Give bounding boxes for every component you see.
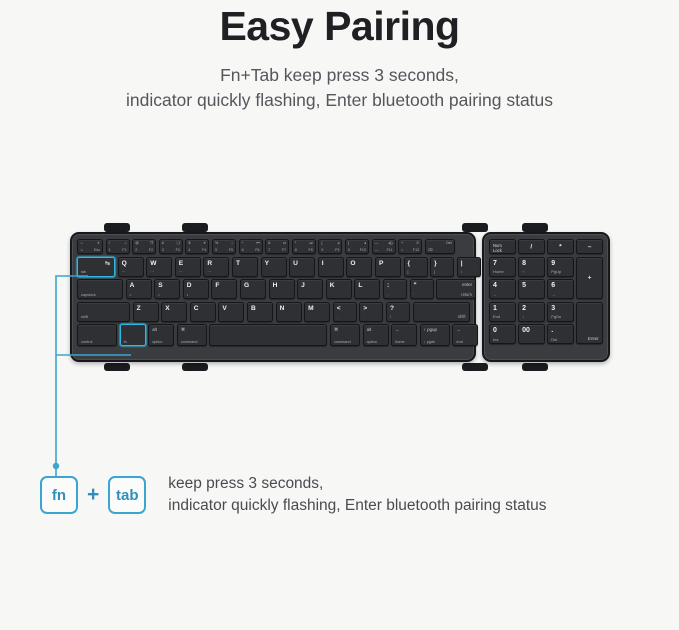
- key-primary-label: |: [461, 260, 463, 267]
- numpad-key-3-0[interactable]: 0Ins: [489, 324, 516, 344]
- footer-tab-key[interactable]: tab: [108, 476, 146, 514]
- key-top-legend: &⏯: [268, 241, 286, 245]
- key-home-11[interactable]: "': [410, 279, 434, 299]
- key-bottom-legend: 3F3: [162, 248, 180, 252]
- key-bottom-legend: =F12: [401, 248, 419, 252]
- key-secondary-label: control: [81, 340, 92, 344]
- key-secondary-label: •: [158, 293, 159, 297]
- numpad-key-number: 8: [522, 260, 526, 267]
- key-secondary-label: ↓ pgdn: [424, 340, 435, 344]
- key-primary-label: L: [358, 282, 362, 289]
- key-secondary-label: command: [334, 340, 351, 344]
- key-primary-label: R: [207, 260, 212, 267]
- key-bottom-legend: 5F5: [215, 248, 233, 252]
- numpad-key-label: Num Lock: [493, 243, 512, 253]
- key-primary-label: J: [301, 282, 305, 289]
- key-function-8[interactable]: *⏭8F8: [292, 239, 316, 254]
- key-modifier-7[interactable]: home←: [391, 324, 417, 346]
- key-secondary-label: end: [456, 340, 462, 344]
- key-top-label: →: [456, 327, 460, 332]
- key-bottom-legend: 7F7: [268, 248, 286, 252]
- key-secondary-label: shift: [81, 315, 88, 319]
- key-qwerty-4[interactable]: R···: [203, 257, 229, 277]
- key-primary-label: Q: [122, 260, 127, 267]
- numpad-enter-key[interactable]: Enter: [576, 302, 603, 345]
- key-top-legend: Del: [428, 241, 452, 245]
- qwerty-row: ↹tabQ···W···E···R···TYUIOP{[}]|\: [77, 257, 470, 277]
- key-qwerty-1[interactable]: Q···: [118, 257, 144, 277]
- key-modifier-0[interactable]: control: [77, 324, 117, 346]
- numpad-key-label: –: [577, 243, 602, 250]
- numpad-key-2-0[interactable]: 1End: [489, 302, 516, 322]
- numpad-fn-key-2[interactable]: *: [547, 239, 574, 254]
- key-top-legend: ^⏮: [242, 241, 260, 245]
- key-qwerty-7[interactable]: U: [289, 257, 315, 277]
- key-home-4[interactable]: F: [211, 279, 237, 299]
- key-function-9[interactable]: (◂9F9: [318, 239, 342, 254]
- key-top-label: alt: [152, 327, 157, 332]
- key-secondary-label: •: [187, 293, 188, 297]
- key-bottom-right-label: return: [461, 292, 472, 297]
- numpad-key-2-1[interactable]: 2↓: [518, 302, 545, 322]
- key-primary-label: Z: [137, 305, 141, 312]
- numpad-enter-label: Enter: [588, 336, 599, 341]
- numpad-key-number: 7: [493, 260, 497, 267]
- key-top-label: ⌘: [334, 327, 338, 333]
- page-title: Easy Pairing: [0, 4, 679, 49]
- key-primary-label: H: [273, 282, 278, 289]
- key-secondary-label: [: [408, 270, 409, 274]
- key-qwerty-0[interactable]: ↹tab: [77, 257, 115, 277]
- key-alpha-6[interactable]: N: [276, 302, 302, 322]
- numpad-key-number: 0: [493, 327, 497, 334]
- key-secondary-label: command: [181, 340, 198, 344]
- numpad-key-function: ←: [493, 292, 497, 297]
- key-primary-label: {: [408, 260, 411, 267]
- key-primary-label: <: [337, 305, 341, 312]
- footer-caption-line-1: keep press 3 seconds,: [168, 473, 546, 495]
- keyboard-illustration: ☼☀↘Esc!⌕1F1@❐2F2#❑3F3$☀4F4%↓5F5^⏮6F6&⏯7F…: [0, 205, 679, 390]
- key-alpha-8[interactable]: <,: [333, 302, 357, 322]
- footer-fn-label: fn: [52, 487, 66, 504]
- hinge-bottom-2: [182, 363, 208, 371]
- numpad-key-0-0[interactable]: 7Home: [489, 257, 516, 277]
- footer-caption-line-2: indicator quickly flashing, Enter blueto…: [168, 495, 546, 517]
- key-primary-label: N: [280, 305, 285, 312]
- key-home-8[interactable]: K: [326, 279, 352, 299]
- subtitle-line-2: indicator quickly flashing, Enter blueto…: [0, 88, 679, 113]
- key-function-5[interactable]: %↓5F5: [212, 239, 236, 254]
- key-function-6[interactable]: ^⏮6F6: [239, 239, 263, 254]
- key-home-9[interactable]: L: [354, 279, 380, 299]
- hinge-top-2: [182, 223, 208, 232]
- key-secondary-label: ···: [122, 270, 126, 274]
- key-alpha-5[interactable]: B: [247, 302, 273, 322]
- foldable-keyboard: ☼☀↘Esc!⌕1F1@❐2F2#❑3F3$☀4F4%↓5F5^⏮6F6&⏯7F…: [70, 223, 610, 371]
- key-top-legend: (◂: [321, 241, 339, 245]
- key-bottom-legend: 2F2: [135, 248, 153, 252]
- numpad-key-function: End: [493, 314, 500, 319]
- key-function-11[interactable]: —◂))—F11: [372, 239, 396, 254]
- key-top-legend: )◂: [348, 241, 366, 245]
- footer-fn-key[interactable]: fn: [40, 476, 78, 514]
- numpad-key-function: ↓: [522, 314, 524, 319]
- key-top-legend: +⚿: [401, 241, 419, 245]
- hinge-top-4: [522, 223, 548, 232]
- key-function-7[interactable]: &⏯7F7: [265, 239, 289, 254]
- key-primary-label: ": [414, 282, 417, 289]
- numpad-key-function: Ins: [493, 337, 498, 342]
- key-alpha-10[interactable]: ?/: [386, 302, 410, 322]
- numpad-key-3-2[interactable]: .Del: [547, 324, 574, 344]
- key-bottom-legend: —F11: [375, 248, 393, 252]
- tab-arrow-icon: ↹: [105, 260, 110, 267]
- key-home-0[interactable]: capslock: [77, 279, 123, 299]
- key-bottom-legend: 9F9: [321, 248, 339, 252]
- numpad-row: 4←56→: [489, 279, 574, 299]
- key-top-legend: %↓: [215, 241, 233, 245]
- key-primary-label: C: [194, 305, 199, 312]
- hinge-top-1: [104, 223, 130, 232]
- numpad-key-number: 9: [551, 260, 555, 267]
- key-bottom-legend: 8F8: [295, 248, 313, 252]
- key-primary-label: >: [363, 305, 367, 312]
- hinge-bottom-3: [462, 363, 488, 371]
- key-qwerty-3[interactable]: E···: [175, 257, 201, 277]
- key-top-label: alt: [367, 327, 372, 332]
- key-alpha-7[interactable]: M: [304, 302, 330, 322]
- hinge-bottom-1: [104, 363, 130, 371]
- key-secondary-label: home: [395, 340, 405, 344]
- function-key-row: ☼☀↘Esc!⌕1F1@❐2F2#❑3F3$☀4F4%↓5F5^⏮6F6&⏯7F…: [77, 239, 470, 254]
- key-qwerty-5[interactable]: T: [232, 257, 258, 277]
- footer-caption: keep press 3 seconds, indicator quickly …: [168, 473, 546, 517]
- key-primary-label: D: [187, 282, 192, 289]
- numpad-key-number: 2: [522, 305, 526, 312]
- key-primary-label: F: [215, 282, 219, 289]
- modifier-row: controlfnoptionaltcommand⌘command⌘option…: [77, 324, 470, 346]
- key-top-label: ⌘: [181, 327, 185, 333]
- page-subtitle: Fn+Tab keep press 3 seconds, indicator q…: [0, 63, 679, 114]
- key-primary-label: G: [244, 282, 249, 289]
- key-secondary-label: ]: [434, 270, 435, 274]
- numpad-key-0-2[interactable]: 9PgUp: [547, 257, 574, 277]
- key-primary-label: V: [222, 305, 226, 312]
- key-primary-label: }: [434, 260, 437, 267]
- numpad-key-label: *: [548, 243, 573, 250]
- numpad-key-1-0[interactable]: 4←: [489, 279, 516, 299]
- key-alpha-4[interactable]: V: [218, 302, 244, 322]
- numpad-key-1-2[interactable]: 6→: [547, 279, 574, 299]
- numpad-key-0-1[interactable]: 8↑: [518, 257, 545, 277]
- key-bottom-right-label: shift: [458, 314, 466, 319]
- key-modifier-2[interactable]: optionalt: [148, 324, 174, 346]
- key-secondary-label: option: [367, 340, 377, 344]
- key-primary-label: U: [293, 260, 298, 267]
- subtitle-line-1: Fn+Tab keep press 3 seconds,: [0, 63, 679, 88]
- key-primary-label: S: [158, 282, 162, 289]
- numpad-key-number: 4: [493, 282, 497, 289]
- key-home-2[interactable]: S•: [154, 279, 180, 299]
- key-qwerty-6[interactable]: Y: [261, 257, 287, 277]
- numpad-key-function: PgDn: [551, 314, 561, 319]
- key-qwerty-8[interactable]: I: [318, 257, 344, 277]
- numpad-plus-label: +: [577, 274, 602, 281]
- numpad-key-number: 6: [551, 282, 555, 289]
- key-function-13[interactable]: Del⌫: [425, 239, 455, 254]
- key-home-3[interactable]: D•: [183, 279, 209, 299]
- home-row: capslockA•S•D•FGHJKL:;"'enterreturn: [77, 279, 470, 299]
- key-alpha-2[interactable]: X: [161, 302, 187, 322]
- key-home-12[interactable]: enterreturn: [436, 279, 476, 299]
- key-primary-label: X: [165, 305, 169, 312]
- key-primary-label: Y: [265, 260, 269, 267]
- bottom-alpha-row: shiftZXCVBNM<,>.?/shift: [77, 302, 470, 322]
- numpad-row: 7Home8↑9PgUp: [489, 257, 574, 277]
- key-top-legend: #❑: [162, 241, 180, 245]
- numpad-function-row: Num Lock/*–: [489, 239, 604, 254]
- key-top-legend: ☼☀: [80, 241, 100, 245]
- key-secondary-label: ,: [337, 315, 338, 319]
- key-top-legend: @❐: [135, 241, 153, 245]
- key-qwerty-11[interactable]: {[: [404, 257, 428, 277]
- key-top-legend: $☀: [188, 241, 206, 245]
- key-bottom-legend: 0F10: [348, 248, 366, 252]
- key-alpha-11[interactable]: shift: [413, 302, 470, 322]
- numpad-key-3-1[interactable]: 00: [518, 324, 545, 344]
- key-function-0[interactable]: ☼☀↘Esc: [77, 239, 103, 254]
- footer-tab-label: tab: [116, 487, 139, 504]
- key-modifier-6[interactable]: optionalt: [363, 324, 389, 346]
- key-secondary-label: .: [363, 315, 364, 319]
- key-home-1[interactable]: A•: [126, 279, 152, 299]
- numpad-fn-key-1[interactable]: /: [518, 239, 545, 254]
- numpad-key-function: →: [551, 292, 555, 297]
- numpad-key-number: 1: [493, 305, 497, 312]
- key-home-5[interactable]: G: [240, 279, 266, 299]
- numpad-key-number: .: [551, 327, 553, 334]
- key-modifier-9[interactable]: end→: [452, 324, 478, 346]
- key-function-2[interactable]: @❐2F2: [132, 239, 156, 254]
- key-secondary-label: option: [152, 340, 162, 344]
- key-primary-label: I: [322, 260, 324, 267]
- footer-plus-sign: +: [87, 483, 99, 507]
- numpad-fn-key-0[interactable]: Num Lock: [489, 239, 516, 254]
- keyboard-numpad-panel: Num Lock/*– 7Home8↑9PgUp4←56→1End2↓3PgDn…: [482, 232, 610, 362]
- numpad-row: 0Ins00.Del: [489, 324, 574, 344]
- key-primary-label: E: [179, 260, 183, 267]
- numpad-right-column: + Enter: [576, 257, 603, 347]
- key-function-10[interactable]: )◂0F10: [345, 239, 369, 254]
- numpad-key-number: 00: [522, 327, 530, 334]
- key-secondary-label: ···: [150, 270, 154, 274]
- key-primary-label: ?: [390, 305, 394, 312]
- key-bottom-legend: 4F4: [188, 248, 206, 252]
- key-top-label: ←: [395, 327, 399, 332]
- key-secondary-label: capslock: [81, 293, 96, 297]
- header: Easy Pairing Fn+Tab keep press 3 seconds…: [0, 0, 679, 114]
- key-bottom-legend: ↘Esc: [80, 248, 100, 252]
- numpad-key-number: 5: [522, 282, 526, 289]
- key-primary-label: B: [251, 305, 256, 312]
- key-function-4[interactable]: $☀4F4: [185, 239, 209, 254]
- key-primary-label: T: [236, 260, 240, 267]
- key-modifier-4[interactable]: [209, 324, 327, 346]
- key-modifier-3[interactable]: command⌘: [177, 324, 207, 346]
- key-top-right-label: enter: [462, 282, 472, 287]
- key-top-legend: !⌕: [109, 241, 127, 245]
- key-qwerty-10[interactable]: P: [375, 257, 401, 277]
- key-alpha-1[interactable]: Z: [133, 302, 159, 322]
- key-secondary-label: ···: [207, 270, 211, 274]
- numpad-key-number: 3: [551, 305, 555, 312]
- numpad-key-label: /: [519, 243, 544, 250]
- key-alpha-3[interactable]: C: [190, 302, 216, 322]
- key-bottom-legend: 6F6: [242, 248, 260, 252]
- key-function-3[interactable]: #❑3F3: [159, 239, 183, 254]
- key-qwerty-13[interactable]: |\: [457, 257, 481, 277]
- key-top-label: ↑ pgup: [424, 327, 437, 332]
- key-qwerty-12[interactable]: }]: [430, 257, 454, 277]
- key-secondary-label: •: [130, 293, 131, 297]
- key-bottom-legend: 1F1: [109, 248, 127, 252]
- key-secondary-label: fn: [124, 340, 127, 344]
- key-primary-label: A: [130, 282, 135, 289]
- key-secondary-label: ···: [179, 270, 183, 274]
- key-modifier-1[interactable]: fn: [120, 324, 146, 346]
- key-function-12[interactable]: +⚿=F12: [398, 239, 422, 254]
- numpad-grid: 7Home8↑9PgUp4←56→1End2↓3PgDn0Ins00.Del: [489, 257, 574, 347]
- numpad-row: 1End2↓3PgDn: [489, 302, 574, 322]
- key-primary-label: :: [387, 282, 389, 289]
- hinge-top-3: [462, 223, 488, 232]
- key-home-10[interactable]: :;: [383, 279, 407, 299]
- key-modifier-5[interactable]: command⌘: [330, 324, 360, 346]
- key-top-legend: *⏭: [295, 241, 313, 245]
- hinge-bottom-4: [522, 363, 548, 371]
- numpad-fn-key-3[interactable]: –: [576, 239, 603, 254]
- key-alpha-9[interactable]: >.: [359, 302, 383, 322]
- key-secondary-label: /: [390, 315, 391, 319]
- numpad-plus-key[interactable]: +: [576, 257, 603, 300]
- keyboard-main-panel: ☼☀↘Esc!⌕1F1@❐2F2#❑3F3$☀4F4%↓5F5^⏮6F6&⏯7F…: [70, 232, 476, 362]
- key-secondary-label: \: [461, 270, 462, 274]
- numpad-key-function: ↑: [522, 269, 524, 274]
- key-alpha-0[interactable]: shift: [77, 302, 130, 322]
- key-secondary-label: ': [414, 293, 415, 297]
- numpad-key-function: Del: [551, 337, 557, 342]
- key-modifier-8[interactable]: ↓ pgdn↑ pgup: [420, 324, 450, 346]
- numpad-key-2-2[interactable]: 3PgDn: [547, 302, 574, 322]
- numpad-key-1-1[interactable]: 5: [518, 279, 545, 299]
- key-home-7[interactable]: J: [297, 279, 323, 299]
- key-primary-label: M: [308, 305, 314, 312]
- footer-callout: fn + tab keep press 3 seconds, indicator…: [40, 473, 547, 517]
- key-primary-label: O: [350, 260, 355, 267]
- numpad-key-function: Home: [493, 269, 504, 274]
- key-bottom-legend: ⌫: [428, 248, 452, 252]
- key-secondary-label: ;: [387, 293, 388, 297]
- key-primary-label: W: [150, 260, 156, 267]
- numpad-key-function: PgUp: [551, 269, 561, 274]
- key-qwerty-9[interactable]: O: [346, 257, 372, 277]
- key-secondary-label: tab: [81, 270, 86, 274]
- key-primary-label: P: [379, 260, 383, 267]
- callout-endpoint-dot: [53, 463, 59, 469]
- key-function-1[interactable]: !⌕1F1: [106, 239, 130, 254]
- key-home-6[interactable]: H: [269, 279, 295, 299]
- key-qwerty-2[interactable]: W···: [146, 257, 172, 277]
- key-primary-label: K: [330, 282, 335, 289]
- key-top-legend: —◂)): [375, 241, 393, 245]
